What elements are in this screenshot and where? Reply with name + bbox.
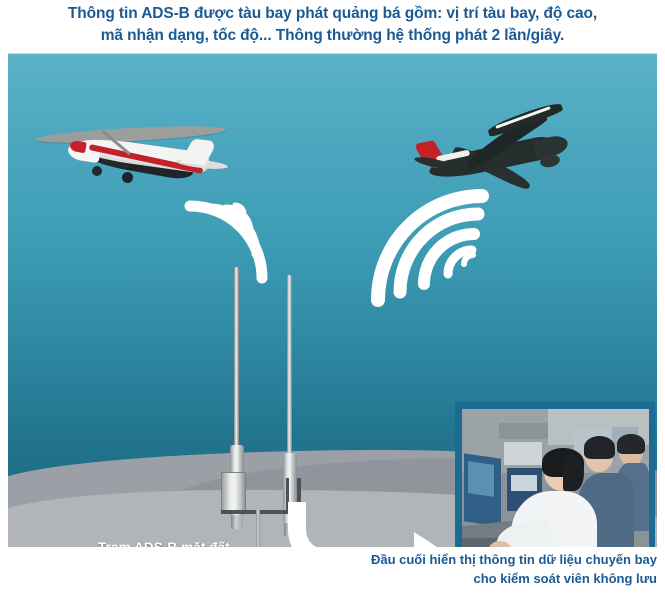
antenna-right-whip: [287, 275, 292, 455]
console-panel-upper: [499, 423, 548, 439]
antenna-left-base: [231, 515, 243, 529]
figure-caption-line-1: Đầu cuối hiển thị thông tin dữ liệu chuy…: [237, 550, 657, 569]
figure-caption-line-2: cho kiểm soát viên không lưu: [237, 569, 657, 588]
adsb-illustration: Trạm ADS-B mặt đất: [8, 53, 657, 547]
data-flow-arrow: [280, 502, 450, 547]
radio-waves-right: [356, 172, 506, 312]
infographic-page: Thông tin ADS-B được tàu bay phát quảng …: [0, 0, 665, 600]
page-title: Thông tin ADS-B được tàu bay phát quảng …: [0, 3, 665, 47]
controller-1-hair-side: [563, 456, 584, 492]
aircraft-main-wheel: [122, 172, 133, 183]
page-title-line-1: Thông tin ADS-B được tàu bay phát quảng …: [0, 3, 665, 25]
equipment-box: [221, 472, 246, 514]
controller-2-hair: [584, 436, 616, 459]
aircraft-nose-wheel: [92, 166, 102, 176]
monitor-center-glow: [511, 475, 537, 491]
console-panel: [503, 441, 542, 466]
controller-3-hair: [617, 434, 645, 454]
control-room-photo-inner: [462, 409, 649, 547]
page-title-line-2: mã nhận dạng, tốc độ... Thông thường hệ …: [0, 25, 665, 47]
radar-screen-main-glow: [468, 461, 494, 497]
control-room-photo: [455, 402, 655, 547]
radio-waves-left: [170, 182, 285, 292]
antenna-left-whip: [234, 267, 239, 447]
antenna-mast-pole: [256, 510, 260, 547]
ground-station-label: Trạm ADS-B mặt đất: [98, 540, 230, 547]
figure-caption: Đầu cuối hiển thị thông tin dữ liệu chuy…: [237, 550, 657, 588]
